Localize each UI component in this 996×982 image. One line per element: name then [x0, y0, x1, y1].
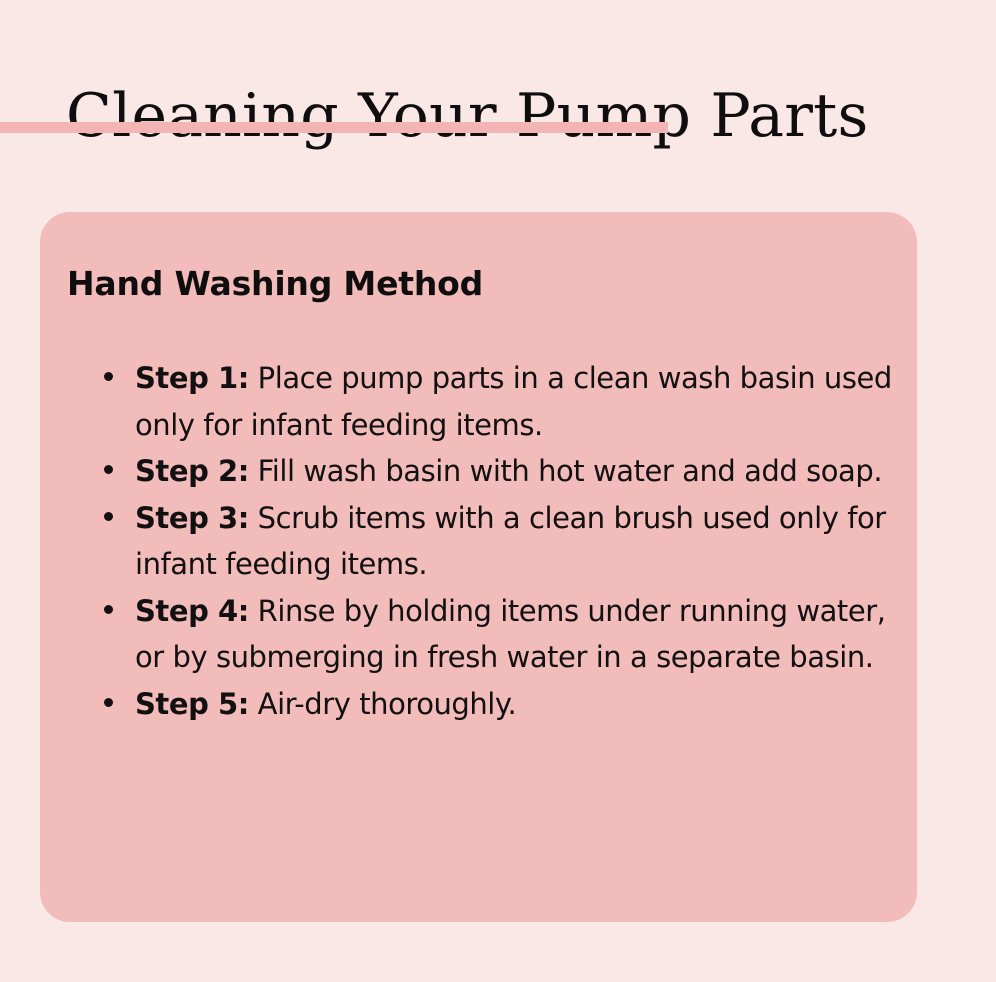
page-title: Cleaning Your Pump Parts: [66, 82, 868, 151]
list-item: Step 3: Scrub items with a clean brush u…: [98, 495, 898, 588]
bullet-icon: [104, 698, 113, 707]
bullet-icon: [104, 605, 113, 614]
bullet-icon: [104, 372, 113, 381]
list-item: Step 5: Air-dry thoroughly.: [98, 681, 898, 728]
step-label: Step 1:: [135, 361, 249, 395]
step-label: Step 2:: [135, 454, 249, 488]
step-text: Air-dry thoroughly.: [249, 687, 516, 721]
bullet-icon: [104, 512, 113, 521]
step-label: Step 3:: [135, 501, 249, 535]
list-item: Step 4: Rinse by holding items under run…: [98, 588, 898, 681]
title-underline-rule: [0, 122, 668, 133]
bullet-icon: [104, 465, 113, 474]
step-text: Place pump parts in a clean wash basin u…: [135, 361, 892, 442]
card-heading: Hand Washing Method: [67, 264, 483, 303]
step-label: Step 4:: [135, 594, 249, 628]
hand-washing-method-card: Hand Washing Method Step 1: Place pump p…: [40, 212, 917, 922]
list-item: Step 1: Place pump parts in a clean wash…: [98, 355, 898, 448]
step-label: Step 5:: [135, 687, 249, 721]
list-item: Step 2: Fill wash basin with hot water a…: [98, 448, 898, 495]
steps-list: Step 1: Place pump parts in a clean wash…: [98, 355, 898, 727]
step-text: Fill wash basin with hot water and add s…: [249, 454, 882, 488]
infographic-page: Cleaning Your Pump Parts Hand Washing Me…: [0, 0, 996, 982]
